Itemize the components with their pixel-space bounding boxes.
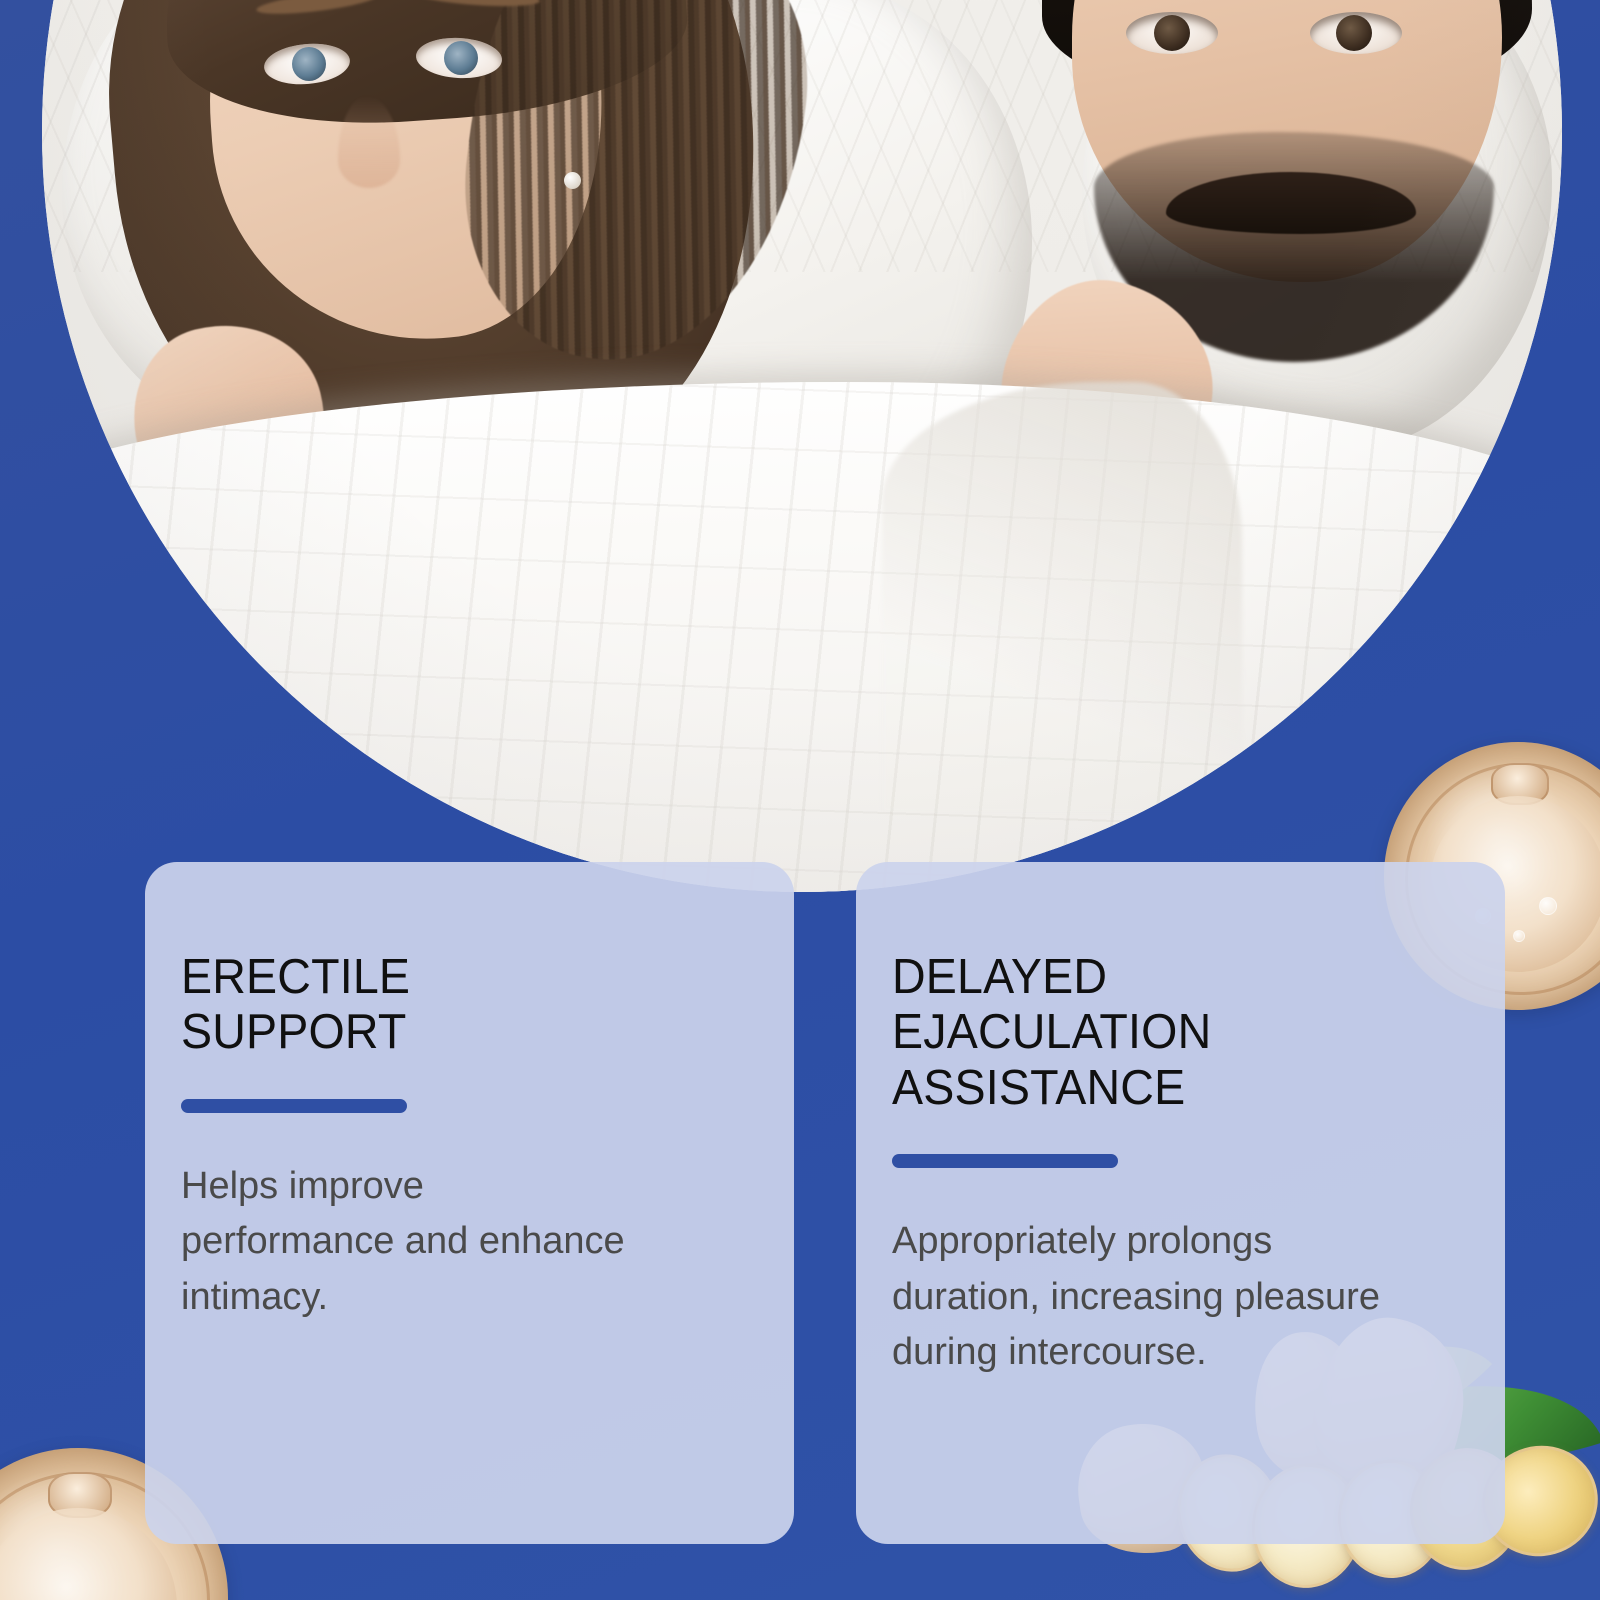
promo-page: ERECTILE SUPPORT Helps improve performan… bbox=[0, 0, 1600, 1600]
woman-earring bbox=[564, 172, 581, 189]
hero-photo-circle bbox=[42, 0, 1562, 892]
duvet-fold bbox=[882, 382, 1242, 812]
feature-cards: ERECTILE SUPPORT Helps improve performan… bbox=[145, 862, 1505, 1544]
man-iris-left bbox=[1154, 15, 1190, 51]
woman-iris-left bbox=[292, 47, 326, 81]
jar-bubble bbox=[1513, 930, 1525, 942]
feature-card-title: DELAYED EJACULATION ASSISTANCE bbox=[892, 950, 1414, 1116]
feature-card-title: ERECTILE SUPPORT bbox=[181, 950, 703, 1061]
duvet bbox=[42, 382, 1562, 892]
hero-photo-scene bbox=[42, 0, 1562, 892]
feature-card-accent-rule bbox=[892, 1154, 1118, 1168]
man-iris-right bbox=[1336, 15, 1372, 51]
feature-card-accent-rule bbox=[181, 1099, 407, 1113]
feature-card-delayed-ejaculation-assistance[interactable]: DELAYED EJACULATION ASSISTANCE Appropria… bbox=[856, 862, 1505, 1544]
feature-card-body: Appropriately prolongs duration, increas… bbox=[892, 1214, 1412, 1380]
feature-card-erectile-support[interactable]: ERECTILE SUPPORT Helps improve performan… bbox=[145, 862, 794, 1544]
feature-card-body: Helps improve performance and enhance in… bbox=[181, 1159, 641, 1325]
woman-iris-right bbox=[444, 41, 478, 75]
